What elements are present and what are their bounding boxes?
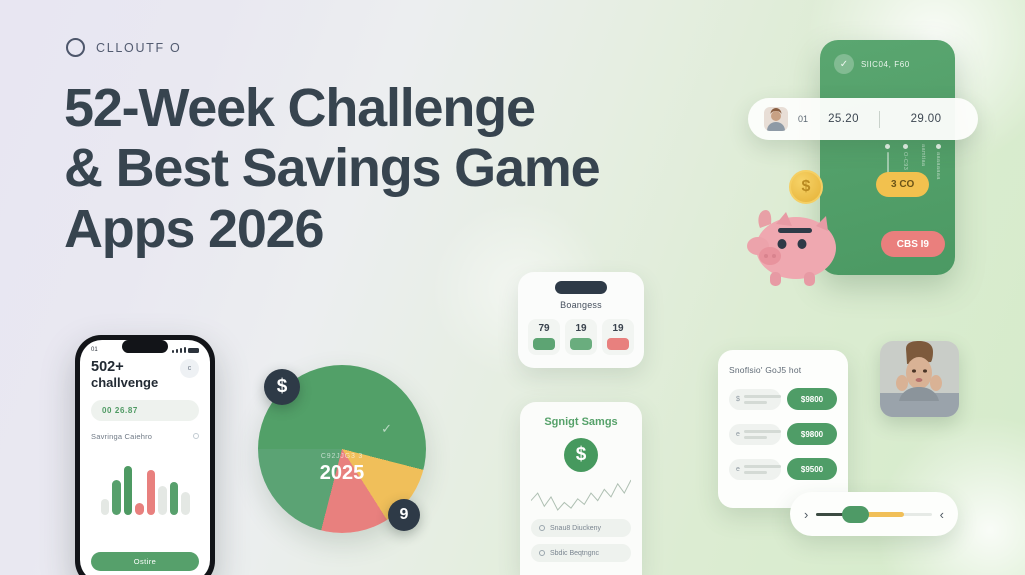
- piggy-bank-icon: [742, 196, 850, 288]
- range-slider[interactable]: › ‹: [790, 492, 958, 536]
- goals-card-rows: $ $9800 e $9800 e: [729, 388, 837, 480]
- phone-header: 502+ challvenge c: [91, 359, 199, 391]
- goals-card-title: Snoflsio' GoJ5 hot: [729, 365, 837, 375]
- phone-cta-button[interactable]: Ostire: [91, 552, 199, 571]
- gold-coin-icon: $: [789, 170, 823, 204]
- goal-amount-pill[interactable]: $9500: [787, 458, 837, 480]
- green-card-label: SlIC04, F60: [861, 60, 910, 69]
- stats-card-title: Boangess: [528, 300, 634, 310]
- check-mark-icon: ✓: [381, 421, 392, 437]
- stat-cell: 19: [565, 319, 597, 355]
- stats-card: Boangess 79 19 19: [518, 272, 644, 368]
- goals-card: Snoflsio' GoJ5 hot $ $9800 e $980: [718, 350, 848, 508]
- page-title-line-2: & Best Savings Game: [64, 138, 744, 198]
- dollar-badge-symbol: $: [277, 376, 288, 398]
- dollar-circle-icon: $: [564, 438, 598, 472]
- goal-symbol: $: [736, 396, 740, 403]
- circle-toggle-icon[interactable]: [193, 433, 199, 439]
- stats-card-cells: 79 19 19: [528, 319, 634, 355]
- phone-section-label: Savringa Caiehro: [91, 432, 152, 441]
- avatar-initial: c: [188, 365, 192, 372]
- savings-card-rows: Snau8 Diuckeny Sbdic Beqtngnc: [531, 519, 631, 562]
- list-item-label: Snau8 Diuckeny: [550, 525, 601, 532]
- stat-value: 19: [602, 323, 634, 334]
- star-icon: [539, 550, 545, 556]
- stat-cell: 19: [602, 319, 634, 355]
- overlay-summary-bar: 01 25.20 29.00: [748, 98, 978, 140]
- count-badge: 9: [388, 499, 420, 531]
- list-item-label: Sbdic Beqtngnc: [550, 550, 599, 557]
- bar-chart-bar: [181, 492, 190, 514]
- savings-line-chart: [531, 478, 631, 512]
- circle-outline-icon: [66, 38, 85, 57]
- phone-screen: 01 502+ challvenge c 00 26.87 Savringa C…: [80, 340, 210, 575]
- goal-symbol: e: [736, 431, 740, 438]
- page-title-line-3: Apps 2026: [64, 199, 744, 259]
- bar-chart-bar: [101, 499, 110, 515]
- slider-track[interactable]: [816, 513, 931, 516]
- phone-title-word: challvenge: [91, 375, 158, 390]
- yellow-amount-pill[interactable]: 3 CO: [876, 172, 929, 197]
- indicator-column: O-C93: [899, 144, 911, 170]
- phone-section-header: Savringa Caiehro: [91, 432, 199, 441]
- goal-description: e: [729, 459, 781, 480]
- savings-card: Sgnigt Samgs $ Snau8 Diuckeny Sbdic Beqt…: [520, 402, 642, 575]
- bar-chart-bar: [135, 503, 144, 515]
- indicator-column: aamtiaa: [920, 144, 926, 166]
- chevron-right-icon[interactable]: ›: [804, 507, 808, 522]
- phone-amount-pill: 00 26.87: [91, 400, 199, 421]
- goal-placeholder-lines: [744, 465, 781, 474]
- green-card-header: ✓ SlIC04, F60: [820, 40, 955, 74]
- phone-status-time: 01: [91, 347, 98, 353]
- card-handle-bar: [555, 281, 607, 294]
- goal-row[interactable]: e $9500: [729, 458, 837, 480]
- goal-description: $: [729, 389, 781, 410]
- overlay-value-left: 25.20: [818, 113, 869, 125]
- overlay-value-right: 29.00: [890, 113, 962, 125]
- dollar-symbol: $: [576, 444, 587, 466]
- red-amount-pill[interactable]: CBS I9: [881, 231, 945, 257]
- dollar-badge-icon: $: [264, 369, 300, 405]
- goal-description: e: [729, 424, 781, 445]
- goal-row[interactable]: e $9800: [729, 423, 837, 445]
- stat-value: 79: [528, 323, 560, 334]
- stat-bar: [570, 338, 592, 350]
- stat-bar: [607, 338, 629, 350]
- phone-title: 502+ challvenge: [91, 359, 158, 391]
- chevron-left-icon[interactable]: ‹: [940, 507, 944, 522]
- brand-name: CLLOUTF O: [96, 41, 181, 55]
- goal-amount-pill[interactable]: $9800: [787, 423, 837, 445]
- pie-chart: C92JJG3 3 2025 ✓ $ 9: [258, 365, 426, 533]
- goal-row[interactable]: $ $9800: [729, 388, 837, 410]
- overlay-divider: [879, 111, 880, 128]
- count-badge-value: 9: [400, 506, 409, 524]
- bar-chart-bar: [158, 486, 167, 515]
- savings-card-title: Sgnigt Samgs: [531, 416, 631, 428]
- phone-title-count: 502+: [91, 359, 158, 376]
- phone-bar-chart: [91, 449, 199, 515]
- portrait-photo-icon: [880, 341, 959, 417]
- coin-symbol: $: [802, 178, 811, 196]
- stat-bar: [533, 338, 555, 350]
- bar-chart-bar: [112, 480, 121, 514]
- signal-icon: [172, 347, 199, 353]
- list-item[interactable]: Sbdic Beqtngnc: [531, 544, 631, 562]
- stat-cell: 79: [528, 319, 560, 355]
- goal-amount-pill[interactable]: $9800: [787, 388, 837, 410]
- phone-mockup: 01 502+ challvenge c 00 26.87 Savringa C…: [75, 335, 215, 575]
- brand-logo[interactable]: CLLOUTF O: [66, 38, 181, 57]
- bar-chart-bar: [147, 470, 156, 515]
- page-title-line-1: 52-Week Challenge: [64, 78, 744, 138]
- bar-chart-bar: [170, 482, 179, 515]
- check-circle-icon: ✓: [834, 54, 854, 74]
- goal-placeholder-lines: [744, 395, 781, 404]
- user-photo-icon: [764, 107, 788, 131]
- indicator-column: aaaaaaaa: [935, 144, 941, 180]
- phone-notch: [122, 340, 168, 353]
- list-item[interactable]: Snau8 Diuckeny: [531, 519, 631, 537]
- user-avatar-icon[interactable]: c: [180, 359, 199, 378]
- slider-handle[interactable]: [842, 506, 869, 523]
- overlay-id-label: 01: [798, 114, 808, 124]
- stat-value: 19: [565, 323, 597, 334]
- page-title: 52-Week Challenge & Best Savings Game Ap…: [64, 78, 744, 259]
- slider-fill-yellow: [867, 512, 904, 517]
- goal-placeholder-lines: [744, 430, 781, 439]
- goal-symbol: e: [736, 466, 740, 473]
- clock-icon: [539, 525, 545, 531]
- bar-chart-bar: [124, 466, 133, 515]
- line-chart-graphic: [531, 478, 631, 512]
